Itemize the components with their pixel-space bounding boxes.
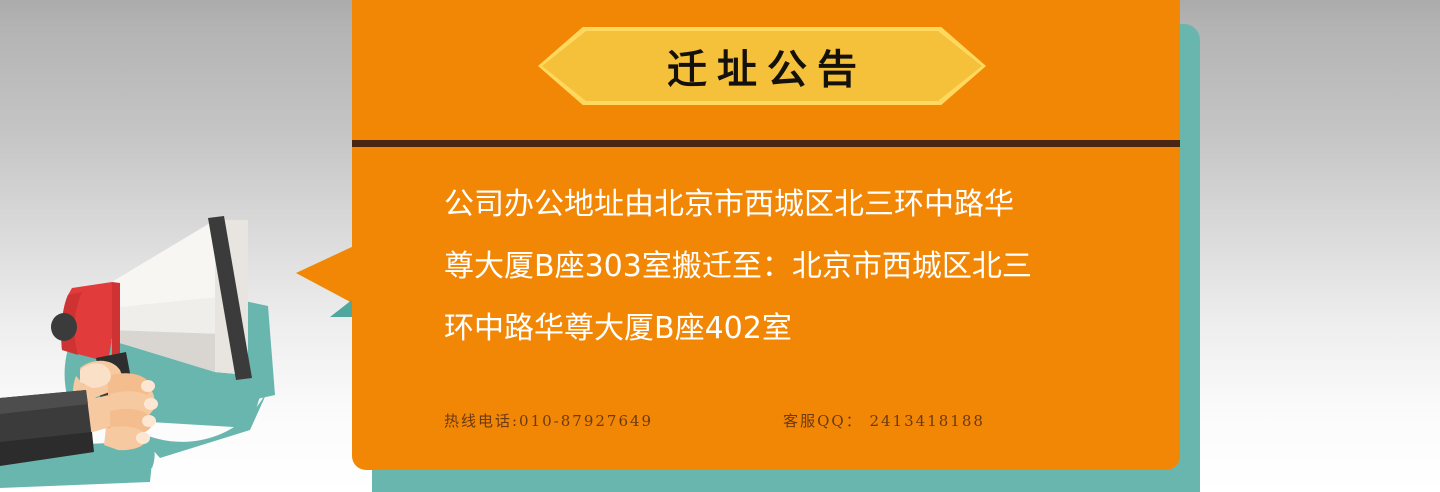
notice-line-2: 尊大厦B座303室搬迁至：北京市西城区北三 (444, 236, 1104, 298)
title-ribbon: 迁址公告 (538, 27, 986, 105)
notice-card: 迁址公告 公司办公地址由北京市西城区北三环中路华 尊大厦B座303室搬迁至：北京… (352, 0, 1180, 470)
page-title: 迁址公告 (538, 27, 986, 105)
divider (352, 140, 1180, 147)
contact-footer: 热线电话:010-87927649 客服QQ： 2413418188 (444, 407, 1124, 433)
megaphone-illustration (0, 190, 300, 492)
hotline-text: 热线电话:010-87927649 (444, 410, 653, 431)
megaphone-knob (51, 313, 77, 341)
notice-line-3: 环中路华尊大厦B座402室 (444, 298, 1104, 360)
notice-body: 公司办公地址由北京市西城区北三环中路华 尊大厦B座303室搬迁至：北京市西城区北… (444, 174, 1104, 360)
notice-line-1: 公司办公地址由北京市西城区北三环中路华 (444, 174, 1104, 236)
announcement-banner-image: 迁址公告 公司办公地址由北京市西城区北三环中路华 尊大厦B座303室搬迁至：北京… (0, 0, 1440, 492)
qq-text: 客服QQ： 2413418188 (783, 410, 985, 431)
